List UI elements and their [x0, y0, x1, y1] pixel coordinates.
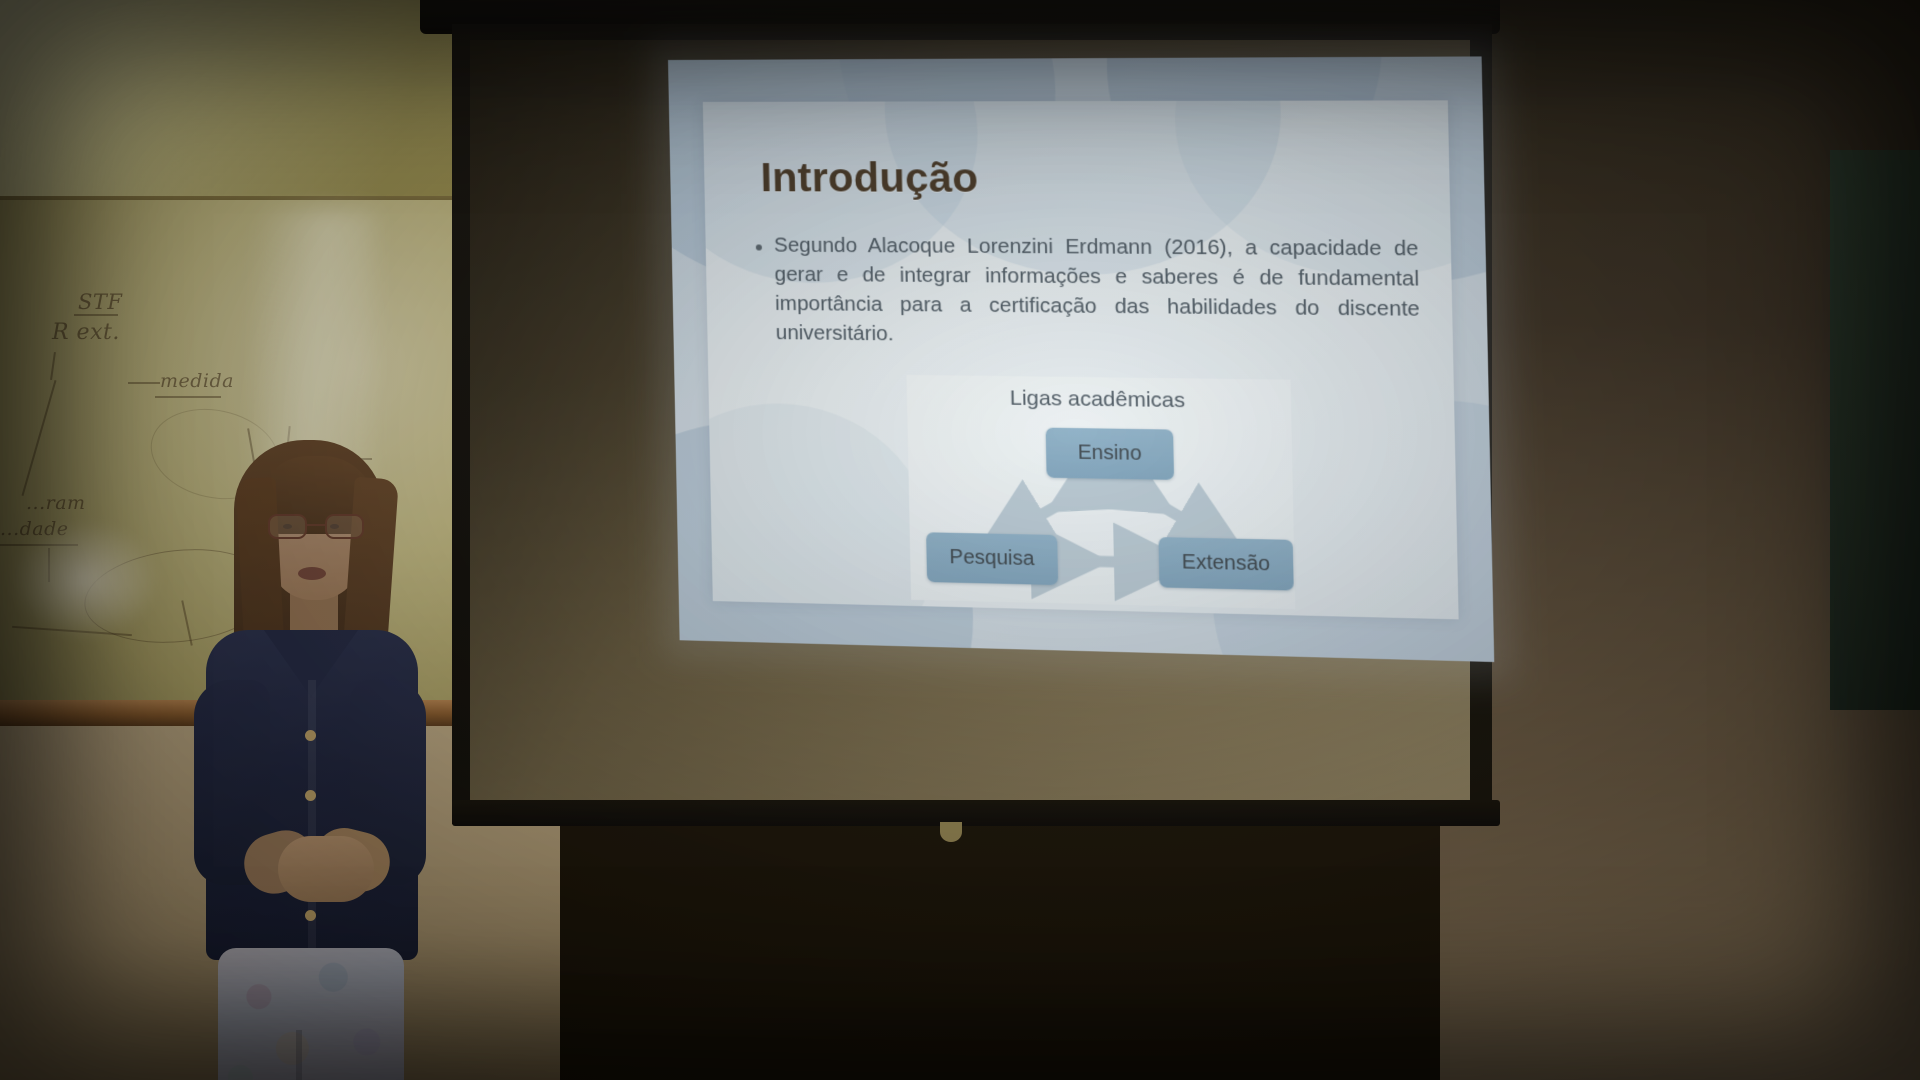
whiteboard-note-medida: medida [160, 370, 234, 392]
classroom-scene: STF R ext. medida ...ram ...dade [0, 0, 1920, 1080]
slide-bullet-list: Segundo Alacoque Lorenzini Erdmann (2016… [756, 230, 1421, 354]
projected-slide: Introdução Segundo Alacoque Lorenzini Er… [668, 56, 1494, 662]
whiteboard-note-rext: R ext. [52, 320, 120, 345]
ligas-academicas-diagram: Ligas acadêmicas [907, 375, 1296, 609]
whiteboard-stroke-1 [50, 352, 56, 380]
arrow-ensino-extensao [1139, 493, 1211, 535]
presenter-trousers-seam [296, 1030, 302, 1080]
projector-screen-bottom-bar [452, 800, 1500, 826]
whiteboard-note-3: ...ram [26, 492, 86, 514]
presenter-trousers-pattern [218, 948, 404, 1080]
presenter-button-4 [305, 910, 316, 921]
presenter-button-1 [305, 730, 316, 741]
presenter-hands [278, 836, 374, 902]
whiteboard-glare-spot [10, 520, 160, 640]
presenter-glasses [268, 514, 364, 540]
slide-content-area: Introdução Segundo Alacoque Lorenzini Er… [703, 100, 1459, 619]
slide-outer-band: Introdução Segundo Alacoque Lorenzini Er… [668, 56, 1494, 662]
diagram-node-pesquisa: Pesquisa [926, 532, 1058, 585]
slide-inner-decor-4 [703, 401, 938, 619]
whiteboard-underline-2 [155, 396, 221, 398]
glasses-lens-right [325, 514, 364, 539]
presenter-trousers [218, 948, 404, 1080]
presenter [186, 430, 436, 1080]
whiteboard-stroke-2 [22, 380, 57, 496]
presenter-mouth [298, 567, 326, 580]
arrow-pesquisa-extensao [1067, 561, 1151, 563]
presenter-button-2 [305, 790, 316, 801]
projector-screen-pull-handle[interactable] [940, 822, 962, 842]
arrow-ensino-pesquisa [1012, 490, 1083, 532]
bullet-point-icon [756, 244, 762, 250]
diagram-node-extensao: Extensão [1158, 537, 1293, 590]
chalkboard-edge [1830, 150, 1920, 710]
slide-title: Introdução [760, 154, 979, 202]
glasses-bridge [307, 524, 325, 526]
glasses-lens-left [268, 514, 307, 539]
diagram-node-ensino: Ensino [1046, 428, 1174, 480]
whiteboard-arrow-1 [128, 382, 160, 384]
slide-bullet-text: Segundo Alacoque Lorenzini Erdmann (2016… [774, 230, 1421, 354]
whiteboard-note-stf: STF [78, 290, 122, 314]
whiteboard-underline-1 [74, 314, 118, 316]
